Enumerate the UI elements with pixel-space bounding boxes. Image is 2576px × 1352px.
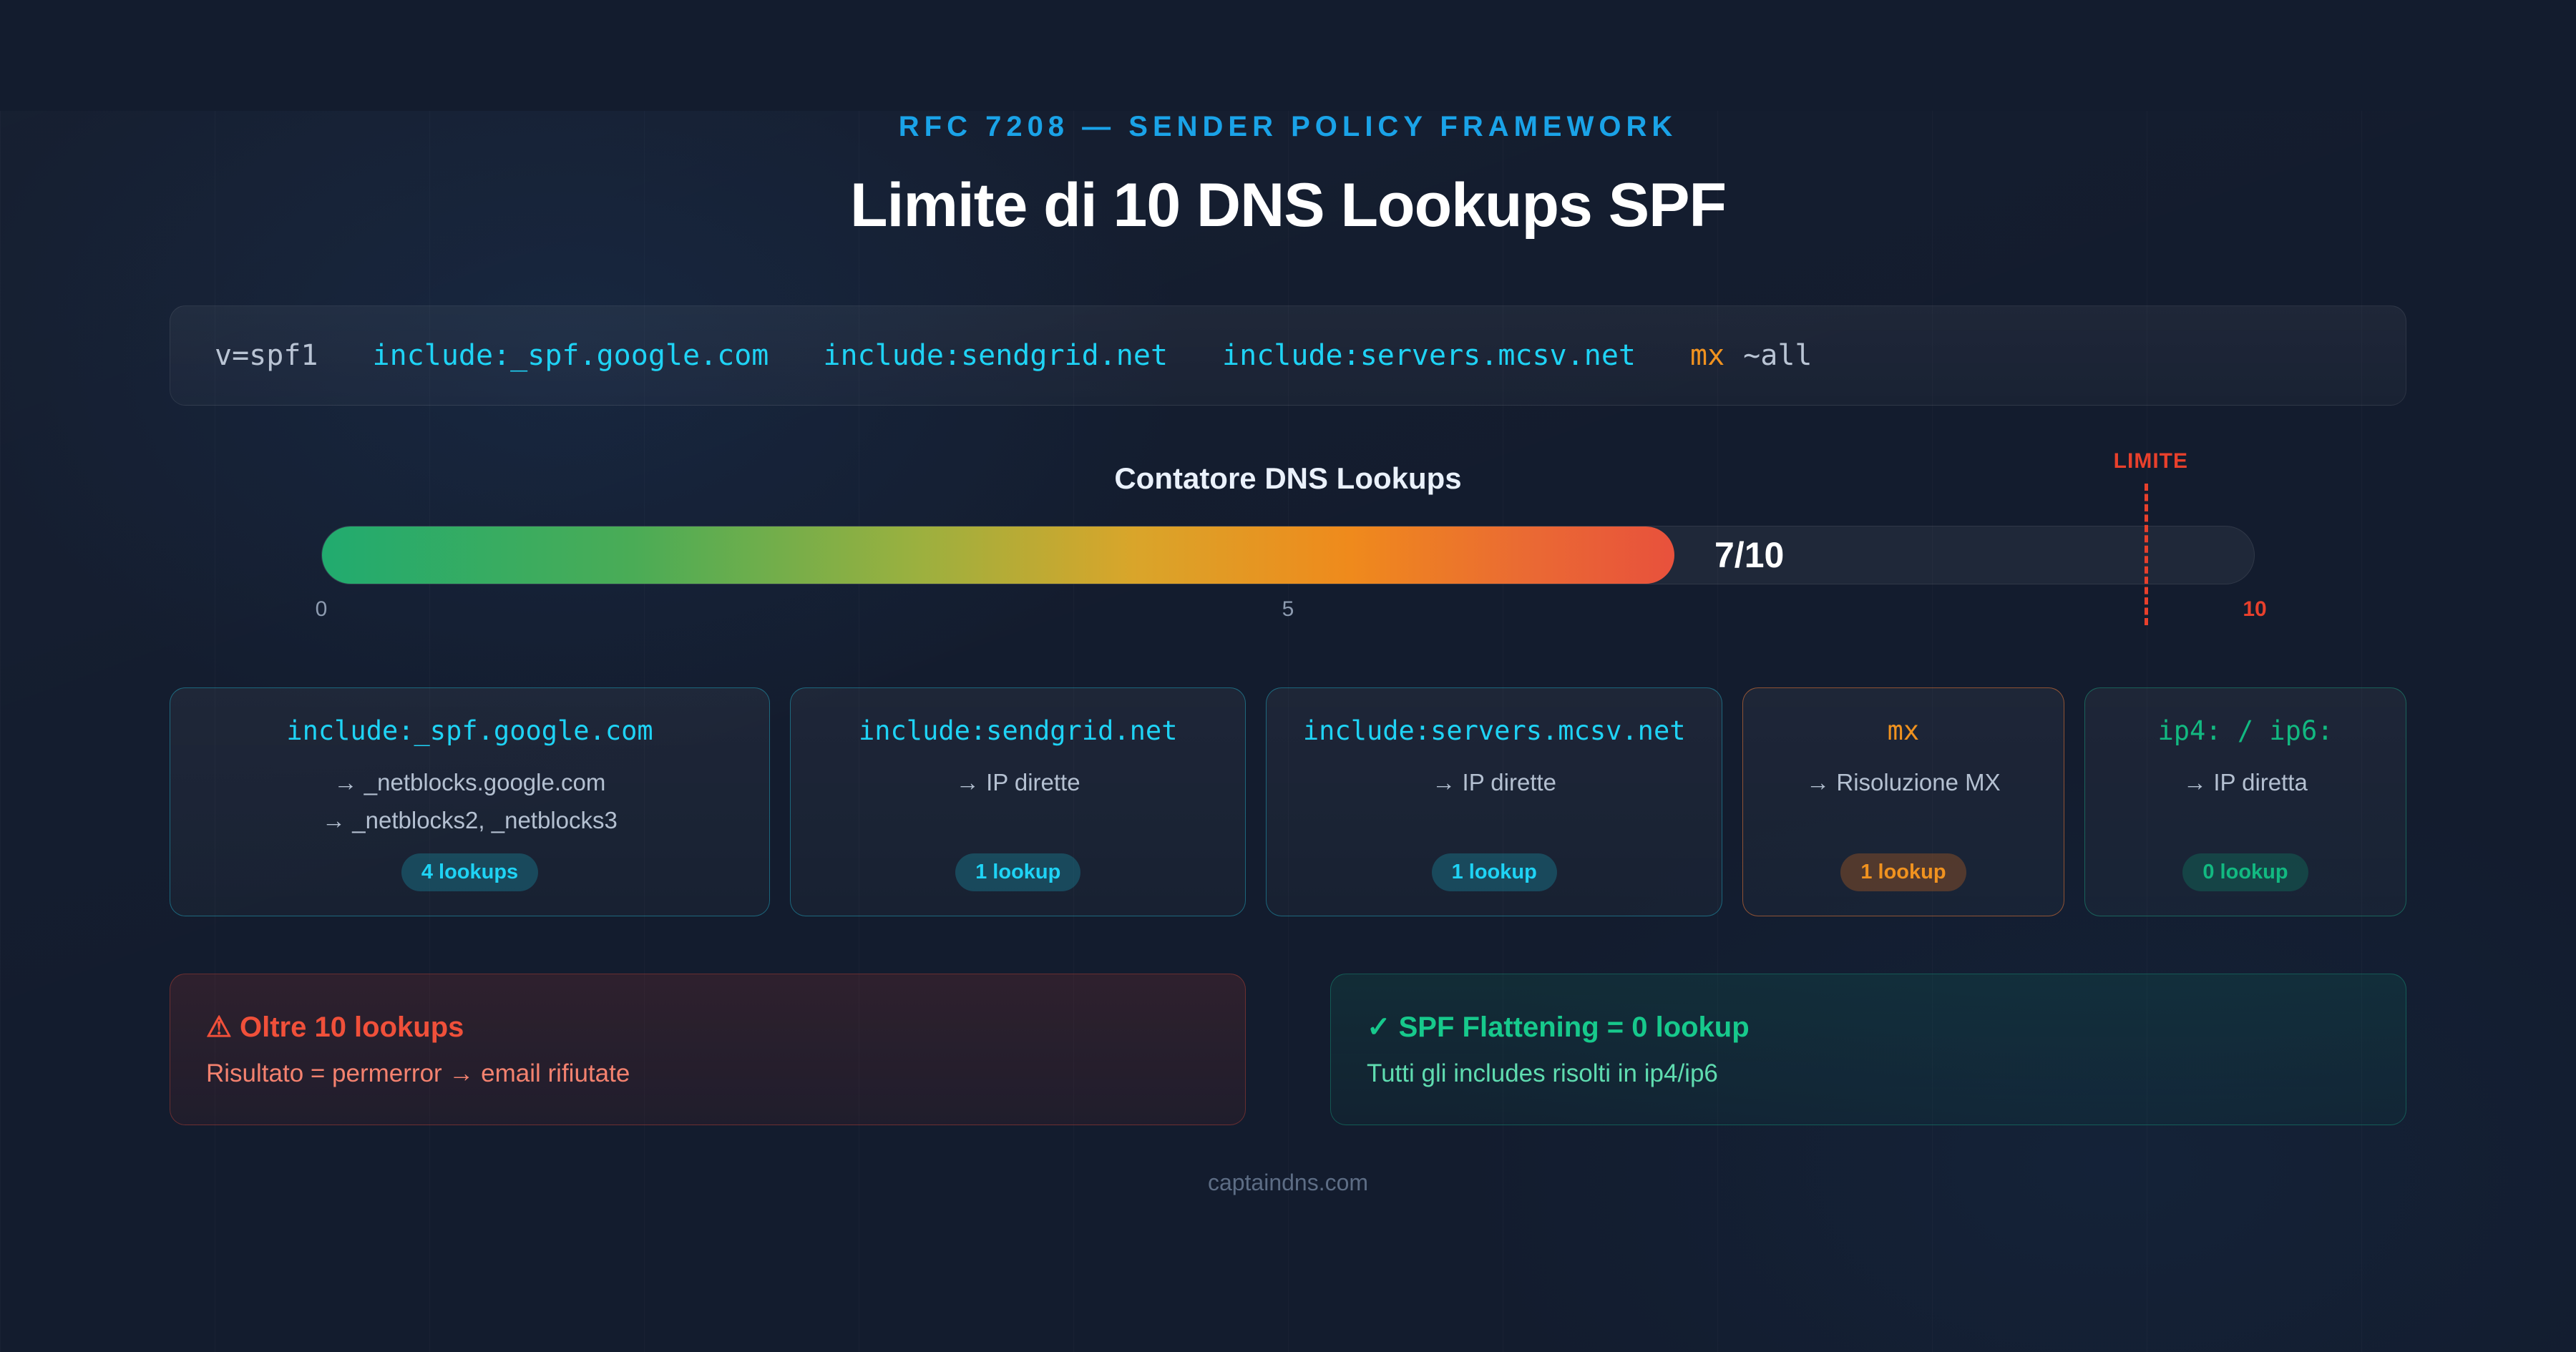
spf-token-include-mcsv: include:servers.mcsv.net — [1222, 339, 1636, 372]
spf-token-include-sendgrid: include:sendgrid.net — [823, 339, 1168, 372]
page-root: RFC 7208 — SENDER POLICY FRAMEWORK Limit… — [0, 111, 2576, 1352]
mechanism-card-list: include:_spf.google.com → _netblocks.goo… — [170, 687, 2406, 916]
spf-record-strip: v=spf1 include:_spf.google.com include:s… — [170, 305, 2406, 406]
mechanism-card-google: include:_spf.google.com → _netblocks.goo… — [170, 687, 770, 916]
card-detail-lines: → IP dirette — [1432, 768, 1556, 836]
card-head: include:servers.mcsv.net — [1303, 717, 1686, 746]
alert-body: Risultato = permerror → email rifiutate — [206, 1059, 1209, 1088]
card-detail-lines: → _netblocks.google.com → _netblocks2, _… — [322, 768, 618, 836]
spf-token-all: ~all — [1743, 339, 1812, 372]
lookup-meter: Contatore DNS Lookups 7/10 LIMITE 0 5 10 — [170, 461, 2406, 629]
alert-title: ⚠ Oltre 10 lookups — [206, 1011, 1209, 1044]
footer-watermark: captaindns.com — [170, 1170, 2406, 1196]
spf-token-include-google: include:_spf.google.com — [373, 339, 769, 372]
alert-title: ✓ SPF Flattening = 0 lookup — [1367, 1011, 2370, 1044]
limit-label: LIMITE — [2114, 449, 2188, 474]
card-head: ip4: / ip6: — [2157, 717, 2333, 746]
card-head: include:_spf.google.com — [286, 717, 653, 746]
meter-tick-5: 5 — [1282, 597, 1294, 622]
meter-ticks: 0 5 10 — [170, 597, 2406, 629]
meter-track: 7/10 LIMITE — [321, 526, 2255, 584]
alert-flattening: ✓ SPF Flattening = 0 lookup Tutti gli in… — [1330, 974, 2406, 1125]
alert-row: ⚠ Oltre 10 lookups Risultato = permerror… — [170, 974, 2406, 1125]
lookup-count-badge: 1 lookup — [1432, 853, 1557, 891]
mechanism-card-mx: mx → Risoluzione MX 1 lookup — [1742, 687, 2064, 916]
card-line: → IP diretta — [2183, 768, 2308, 797]
spf-token-mx: mx — [1690, 339, 1724, 372]
alert-body: Tutti gli includes risolti in ip4/ip6 — [1367, 1059, 2370, 1088]
lookup-count-badge: 1 lookup — [955, 853, 1080, 891]
card-head: mx — [1888, 717, 1920, 746]
meter-fill — [322, 526, 1674, 584]
page-title: Limite di 10 DNS Lookups SPF — [170, 170, 2406, 241]
card-detail-lines: → IP diretta — [2183, 768, 2308, 836]
meter-title: Contatore DNS Lookups — [170, 461, 2406, 496]
card-line: → IP dirette — [1432, 768, 1556, 797]
card-line: → Risoluzione MX — [1806, 768, 2000, 797]
card-head: include:sendgrid.net — [859, 717, 1178, 746]
meter-tick-10: 10 — [2243, 597, 2266, 622]
card-detail-lines: → IP dirette — [956, 768, 1080, 836]
alert-over-limit: ⚠ Oltre 10 lookups Risultato = permerror… — [170, 974, 1246, 1125]
lookup-count-badge: 4 lookups — [401, 853, 538, 891]
card-detail-lines: → Risoluzione MX — [1806, 768, 2000, 836]
lookup-count-badge: 1 lookup — [1840, 853, 1966, 891]
meter-value-label: 7/10 — [1714, 534, 1784, 576]
lookup-count-badge: 0 lookup — [2182, 853, 2308, 891]
mechanism-card-sendgrid: include:sendgrid.net → IP dirette 1 look… — [790, 687, 1246, 916]
meter-row: 7/10 LIMITE — [170, 526, 2406, 584]
eyebrow-label: RFC 7208 — SENDER POLICY FRAMEWORK — [170, 111, 2406, 143]
card-line: → IP dirette — [956, 768, 1080, 797]
card-line: → _netblocks.google.com — [322, 768, 618, 797]
mechanism-card-mcsv: include:servers.mcsv.net → IP dirette 1 … — [1266, 687, 1722, 916]
meter-tick-0: 0 — [316, 597, 328, 622]
mechanism-card-ip: ip4: / ip6: → IP diretta 0 lookup — [2084, 687, 2406, 916]
spf-token-version: v=spf1 — [215, 339, 318, 372]
card-line: → _netblocks2, _netblocks3 — [322, 805, 618, 835]
